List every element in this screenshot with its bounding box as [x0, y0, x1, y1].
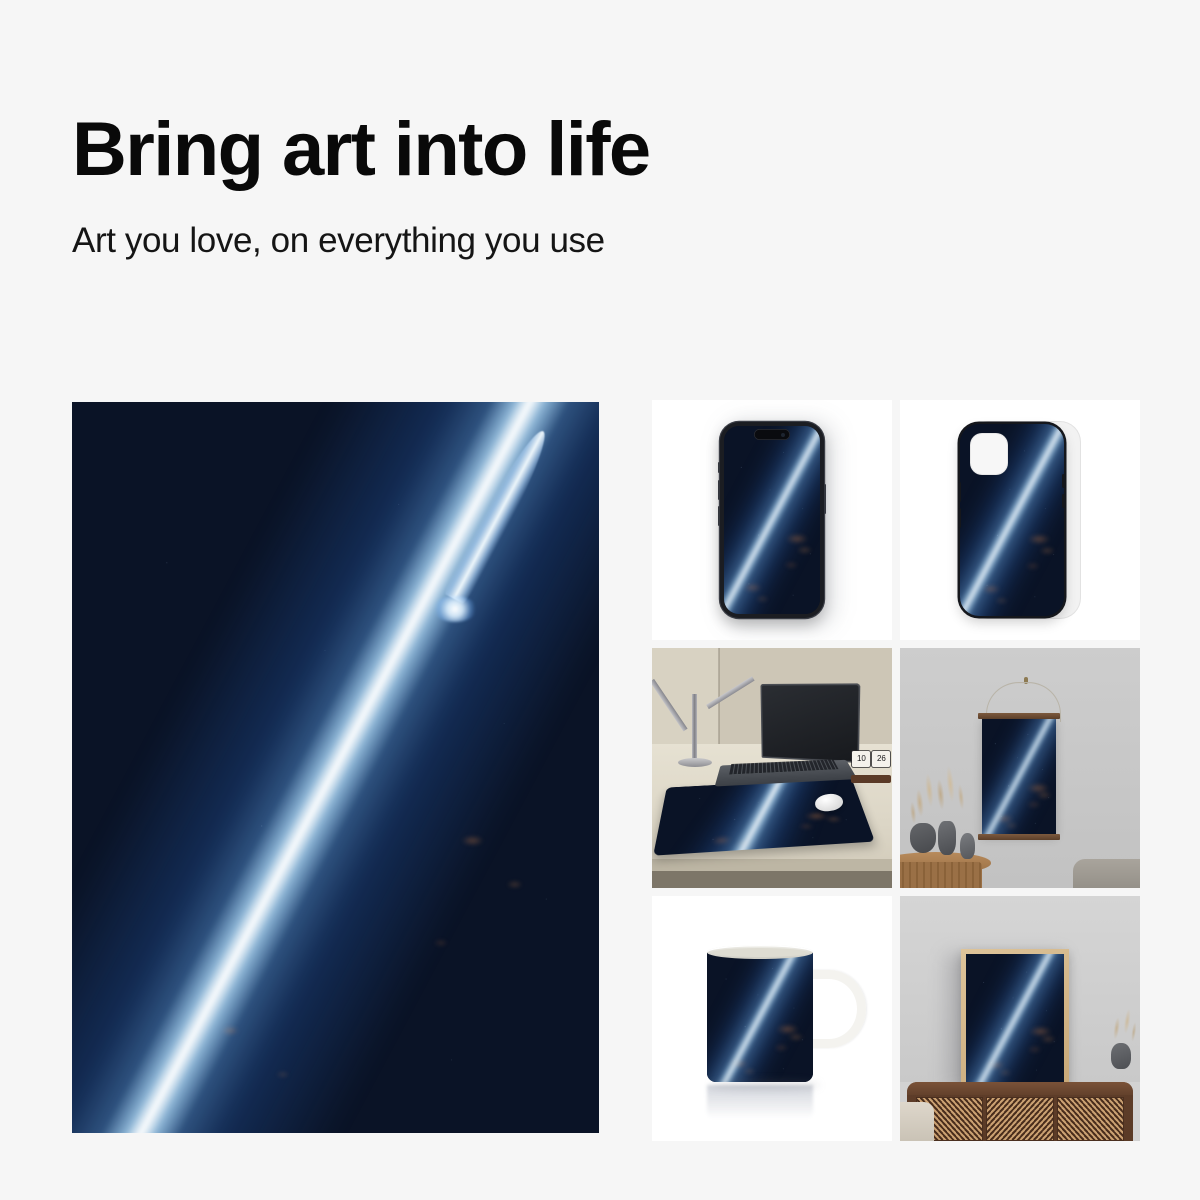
product-hanging-canvas[interactable]	[900, 648, 1140, 888]
glass-vase-decor	[910, 823, 936, 853]
product-thumbnail-grid: 10 26	[652, 400, 1140, 1135]
sideboard-top	[907, 1082, 1133, 1095]
ceramic-vase-decor	[938, 821, 956, 855]
case-side-button-cutout	[1062, 494, 1065, 508]
artwork-stars	[724, 426, 820, 614]
artwork-on-canvas	[982, 718, 1056, 836]
phone-case-wrapper	[960, 424, 1080, 616]
phone-case-body	[960, 424, 1064, 616]
mug-body	[707, 950, 813, 1082]
mug-reflection	[707, 1085, 813, 1119]
case-volume-up-cutout	[958, 482, 961, 502]
desk-edge	[652, 859, 892, 871]
product-desk-mat[interactable]: 10 26	[652, 648, 892, 888]
product-mug[interactable]	[652, 896, 892, 1141]
artwork-embers	[966, 954, 1064, 1084]
artwork-on-mug	[707, 950, 813, 1082]
case-volume-down-cutout	[958, 508, 961, 528]
laptop-screen	[760, 683, 860, 762]
artwork-stars	[72, 402, 599, 1133]
desk-scene: 10 26	[652, 648, 892, 888]
picture-frame	[961, 949, 1069, 1089]
flip-calendar: 10 26	[852, 751, 890, 767]
framed-artwork	[966, 954, 1064, 1084]
small-vase-decor	[960, 833, 975, 859]
phone-power-button	[824, 484, 826, 514]
header: Bring art into life Art you love, on eve…	[72, 112, 1132, 261]
artwork-stars	[966, 954, 1064, 1084]
sofa-corner	[900, 1102, 934, 1141]
desk-under-shadow	[652, 871, 892, 888]
sofa-corner	[1073, 859, 1140, 888]
artwork-stars	[982, 718, 1056, 836]
phone-volume-up-button	[718, 480, 720, 500]
artwork-embers	[982, 718, 1056, 836]
artwork-on-phone	[724, 426, 820, 614]
living-room-scene	[900, 648, 1140, 888]
promo-page: Bring art into life Art you love, on eve…	[0, 0, 1200, 1200]
camera-cutout-icon	[971, 434, 1007, 474]
dynamic-island-icon	[754, 429, 790, 440]
desk-lamp-post	[692, 694, 697, 761]
canvas-rail-top	[978, 713, 1060, 719]
product-framed-print[interactable]	[900, 896, 1140, 1141]
phone-device	[720, 422, 824, 618]
main-artwork[interactable]	[72, 402, 599, 1133]
product-phone-case[interactable]	[900, 400, 1140, 640]
artwork-embers	[707, 950, 813, 1082]
artwork-in-frame	[966, 954, 1064, 1084]
artwork-comet-trail	[72, 402, 599, 1133]
page-title: Bring art into life	[72, 112, 1132, 188]
side-table-body	[900, 862, 982, 888]
case-side-button-cutout	[1062, 474, 1065, 488]
product-phone-wallpaper[interactable]	[652, 400, 892, 640]
artwork-engine-flare	[433, 596, 477, 622]
phone-volume-down-button	[718, 506, 720, 526]
artwork-embers	[72, 402, 599, 1133]
page-subtitle: Art you love, on everything you use	[72, 222, 1132, 261]
artwork-stars	[707, 950, 813, 1082]
phone-screen	[724, 426, 820, 614]
sideboard-doors	[916, 1097, 1124, 1141]
artwork-embers	[724, 426, 820, 614]
flip-calendar-base	[851, 775, 891, 783]
sideboard-door	[1057, 1097, 1124, 1141]
ceramic-vase-decor	[1111, 1043, 1131, 1069]
calendar-month: 10	[852, 751, 870, 767]
phone-mute-button	[718, 462, 720, 473]
sideboard-door	[986, 1097, 1053, 1141]
calendar-day: 26	[872, 751, 890, 767]
hanging-canvas-product	[982, 718, 1056, 836]
walnut-sideboard	[907, 1082, 1133, 1141]
canvas-rail-bottom	[978, 834, 1060, 840]
sideboard-scene	[900, 896, 1140, 1141]
product-gallery: 10 26	[72, 402, 1140, 1133]
